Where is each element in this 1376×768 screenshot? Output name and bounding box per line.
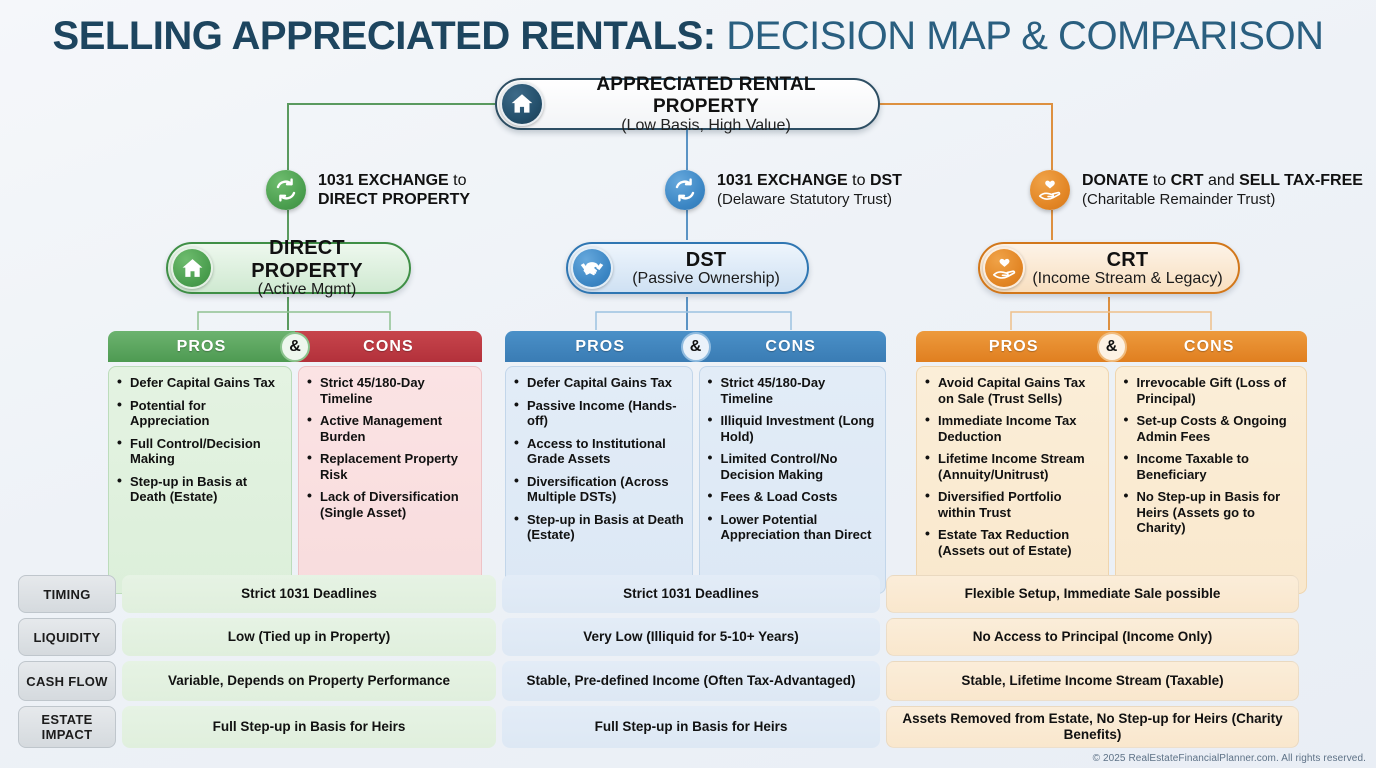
cons-header-dst: CONS [696, 331, 887, 362]
row-label-cash-flow: CASH FLOW [18, 661, 116, 701]
branch-3-rest2: and [1204, 172, 1240, 189]
cons-header-crt: CONS [1112, 331, 1308, 362]
category-direct-text: DIRECT PROPERTY (Active Mgmt) [213, 237, 409, 299]
proscons-header-crt: PROS CONS & [916, 331, 1307, 362]
proscons-header-dst: PROS CONS & [505, 331, 886, 362]
table-row: LIQUIDITY Low (Tied up in Property) Very… [18, 618, 1332, 656]
page-title-bold: SELLING APPRECIATED RENTALS: [53, 14, 716, 58]
category-node-direct-property[interactable]: DIRECT PROPERTY (Active Mgmt) [166, 242, 411, 294]
list-item: Step-up in Basis at Death (Estate) [117, 474, 285, 505]
list-item: Diversified Portfolio within Trust [925, 489, 1102, 520]
list-item: Step-up in Basis at Death (Estate) [514, 512, 686, 543]
list-item: Lack of Diversification (Single Asset) [307, 489, 475, 520]
proscons-group-crt: PROS CONS & Avoid Capital Gains Tax on S… [916, 331, 1307, 594]
pros-list-crt: Avoid Capital Gains Tax on Sale (Trust S… [916, 366, 1109, 594]
branch-2-bold: 1031 EXCHANGE [717, 172, 848, 189]
copyright-footer: © 2025 RealEstateFinancialPlanner.com. A… [1093, 753, 1366, 764]
row-label-liquidity: LIQUIDITY [18, 618, 116, 656]
category-node-dst[interactable]: DST (Passive Ownership) [566, 242, 809, 294]
list-item: Fees & Load Costs [708, 489, 880, 505]
branch-3-bold3: SELL TAX-FREE [1239, 172, 1363, 189]
category-crt-subtitle: (Income Stream & Legacy) [1025, 270, 1230, 288]
list-item: Defer Capital Gains Tax [514, 375, 686, 391]
cell-estate-direct: Full Step-up in Basis for Heirs [122, 706, 496, 748]
ampersand-badge-direct: & [280, 332, 310, 362]
cell-estate-dst: Full Step-up in Basis for Heirs [502, 706, 880, 748]
cell-estate-crt: Assets Removed from Estate, No Step-up f… [886, 706, 1299, 748]
branch-1031-direct-label: 1031 EXCHANGE to DIRECT PROPERTY [318, 171, 470, 209]
hand-heart-icon [1030, 170, 1070, 210]
list-item: Immediate Income Tax Deduction [925, 413, 1102, 444]
home-icon [500, 82, 544, 126]
branch-1031-dst-label: 1031 EXCHANGE to DST (Delaware Statutory… [717, 171, 902, 209]
root-node-appreciated-rental-property[interactable]: APPRECIATED RENTAL PROPERTY (Low Basis, … [495, 78, 880, 130]
table-row: TIMING Strict 1031 Deadlines Strict 1031… [18, 575, 1332, 613]
branch-3-line2: (Charitable Remainder Trust) [1082, 190, 1363, 209]
branch-donate-crt[interactable]: DONATE to CRT and SELL TAX-FREE (Charita… [1030, 170, 1363, 210]
comparison-table: TIMING Strict 1031 Deadlines Strict 1031… [18, 575, 1332, 753]
cons-header-direct: CONS [295, 331, 482, 362]
proscons-group-dst: PROS CONS & Defer Capital Gains Tax Pass… [505, 331, 886, 594]
list-item: Passive Income (Hands-off) [514, 398, 686, 429]
page-title-light: DECISION MAP & COMPARISON [716, 14, 1324, 58]
pros-list-direct: Defer Capital Gains Tax Potential for Ap… [108, 366, 292, 594]
cell-liquidity-crt: No Access to Principal (Income Only) [886, 618, 1299, 656]
branch-3-bold: DONATE [1082, 172, 1148, 189]
cell-cashflow-crt: Stable, Lifetime Income Stream (Taxable) [886, 661, 1299, 701]
list-item: Income Taxable to Beneficiary [1124, 451, 1301, 482]
handshake-icon [571, 247, 613, 289]
cell-timing-direct: Strict 1031 Deadlines [122, 575, 496, 613]
exchange-arrows-icon [266, 170, 306, 210]
pros-header-dst: PROS [505, 331, 696, 362]
list-item: Limited Control/No Decision Making [708, 451, 880, 482]
cell-timing-crt: Flexible Setup, Immediate Sale possible [886, 575, 1299, 613]
pros-list-dst: Defer Capital Gains Tax Passive Income (… [505, 366, 693, 594]
category-node-crt[interactable]: CRT (Income Stream & Legacy) [978, 242, 1240, 294]
exchange-arrows-icon [665, 170, 705, 210]
pros-header-direct: PROS [108, 331, 295, 362]
list-item: Irrevocable Gift (Loss of Principal) [1124, 375, 1301, 406]
branch-2-line2: (Delaware Statutory Trust) [717, 190, 902, 209]
branch-3-bold2: CRT [1171, 172, 1204, 189]
list-item: Set-up Costs & Ongoing Admin Fees [1124, 413, 1301, 444]
ampersand-badge-crt: & [1097, 332, 1127, 362]
cons-list-direct: Strict 45/180-Day Timeline Active Manage… [298, 366, 482, 594]
row-label-timing: TIMING [18, 575, 116, 613]
cons-list-dst: Strict 45/180-Day Timeline Illiquid Inve… [699, 366, 887, 594]
pros-header-crt: PROS [916, 331, 1112, 362]
proscons-body-dst: Defer Capital Gains Tax Passive Income (… [505, 366, 886, 594]
ampersand-badge-dst: & [681, 332, 711, 362]
list-item: Defer Capital Gains Tax [117, 375, 285, 391]
category-dst-text: DST (Passive Ownership) [613, 249, 807, 288]
cell-timing-dst: Strict 1031 Deadlines [502, 575, 880, 613]
proscons-body-direct: Defer Capital Gains Tax Potential for Ap… [108, 366, 482, 594]
row-label-estate-impact: ESTATE IMPACT [18, 706, 116, 748]
list-item: Diversification (Across Multiple DSTs) [514, 474, 686, 505]
list-item: Avoid Capital Gains Tax on Sale (Trust S… [925, 375, 1102, 406]
cell-liquidity-direct: Low (Tied up in Property) [122, 618, 496, 656]
page-title: SELLING APPRECIATED RENTALS: DECISION MA… [0, 12, 1376, 60]
list-item: Lifetime Income Stream (Annuity/Unitrust… [925, 451, 1102, 482]
list-item: Access to Institutional Grade Assets [514, 436, 686, 467]
list-item: Illiquid Investment (Long Hold) [708, 413, 880, 444]
branch-1-rest: to [449, 172, 467, 189]
proscons-header-direct: PROS CONS & [108, 331, 482, 362]
proscons-group-direct-property: PROS CONS & Defer Capital Gains Tax Pote… [108, 331, 482, 594]
table-row: CASH FLOW Variable, Depends on Property … [18, 661, 1332, 701]
list-item: Lower Potential Appreciation than Direct [708, 512, 880, 543]
cell-liquidity-dst: Very Low (Illiquid for 5-10+ Years) [502, 618, 880, 656]
branch-1-bold: 1031 EXCHANGE [318, 172, 449, 189]
hand-heart-icon [983, 247, 1025, 289]
cons-list-crt: Irrevocable Gift (Loss of Principal) Set… [1115, 366, 1308, 594]
table-row: ESTATE IMPACT Full Step-up in Basis for … [18, 706, 1332, 748]
branch-3-rest: to [1148, 172, 1170, 189]
branch-2-bold2: DST [870, 172, 902, 189]
home-icon [171, 247, 213, 289]
category-direct-subtitle: (Active Mgmt) [213, 281, 401, 299]
category-crt-text: CRT (Income Stream & Legacy) [1025, 249, 1238, 288]
root-node-title: APPRECIATED RENTAL PROPERTY [544, 74, 868, 118]
list-item: Estate Tax Reduction (Assets out of Esta… [925, 527, 1102, 558]
branch-1-line2: DIRECT PROPERTY [318, 190, 470, 209]
list-item: Full Control/Decision Making [117, 436, 285, 467]
root-node-text: APPRECIATED RENTAL PROPERTY (Low Basis, … [544, 74, 878, 135]
proscons-body-crt: Avoid Capital Gains Tax on Sale (Trust S… [916, 366, 1307, 594]
branch-1031-dst[interactable]: 1031 EXCHANGE to DST (Delaware Statutory… [665, 170, 902, 210]
category-dst-subtitle: (Passive Ownership) [613, 270, 799, 288]
root-node-subtitle: (Low Basis, High Value) [544, 117, 868, 135]
branch-2-rest: to [848, 172, 870, 189]
category-direct-title: DIRECT PROPERTY [213, 237, 401, 283]
category-crt-title: CRT [1025, 249, 1230, 272]
list-item: No Step-up in Basis for Heirs (Assets go… [1124, 489, 1301, 536]
list-item: Potential for Appreciation [117, 398, 285, 429]
list-item: Replacement Property Risk [307, 451, 475, 482]
cell-cashflow-direct: Variable, Depends on Property Performanc… [122, 661, 496, 701]
list-item: Strict 45/180-Day Timeline [307, 375, 475, 406]
cell-cashflow-dst: Stable, Pre-defined Income (Often Tax-Ad… [502, 661, 880, 701]
branch-donate-crt-label: DONATE to CRT and SELL TAX-FREE (Charita… [1082, 171, 1363, 209]
list-item: Active Management Burden [307, 413, 475, 444]
category-dst-title: DST [613, 249, 799, 272]
branch-1031-direct[interactable]: 1031 EXCHANGE to DIRECT PROPERTY [266, 170, 470, 210]
list-item: Strict 45/180-Day Timeline [708, 375, 880, 406]
